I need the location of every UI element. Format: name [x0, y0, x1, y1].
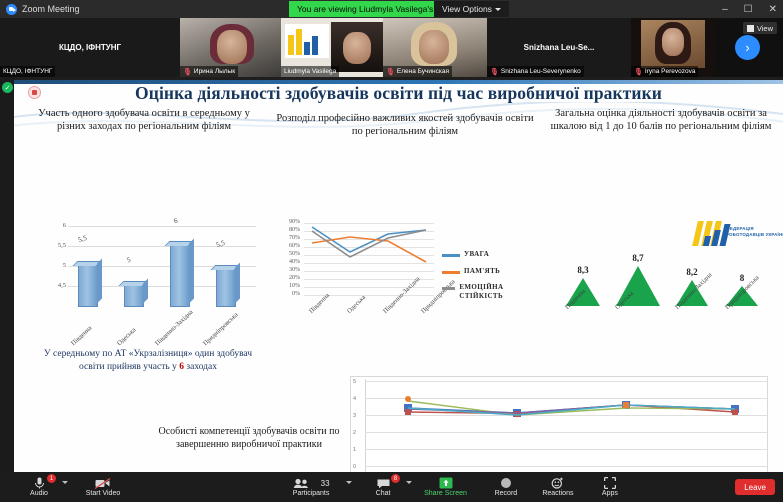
zoom-logo-icon: [6, 4, 17, 15]
audio-badge: 1: [47, 474, 56, 483]
view-options-label: View Options: [442, 4, 492, 14]
chart-competencies-lines: 5 4 3 2 1 0: [350, 376, 768, 472]
cone-bar: 8,7 Одеська: [616, 266, 660, 306]
legend-item-emotional: ЕМОЦІЙНА СТІЙКІСТЬ: [442, 283, 526, 301]
apps-label: Apps: [602, 490, 618, 497]
participant-name-label: КЦДО, ІФНТУНГ: [3, 68, 52, 75]
legend-label: ПАМ'ЯТЬ: [464, 267, 500, 276]
view-layout-button[interactable]: View: [743, 22, 777, 34]
chat-options-chevron-icon[interactable]: [406, 481, 412, 484]
chat-label: Chat: [376, 490, 391, 497]
microphone-icon: [34, 477, 45, 489]
gridline: [68, 226, 256, 227]
chart-overall-score-cones: ФЕДЕРАЦІЯ РОБОТОДАВЦІВ УКРАЇНИ 8,3 Півде…: [554, 230, 776, 330]
bar-side-face: [97, 259, 102, 304]
participant-tile[interactable]: Snizhana Leu-Se... 🎙 Snizhana Leu-Severy…: [487, 18, 631, 77]
y-tick: 5,5: [58, 242, 66, 249]
chart-qualities-lines: 90% 80% 70% 60% 50% 40% 30% 20% 10% 0%: [282, 220, 532, 320]
reactions-button[interactable]: Reactions: [535, 472, 581, 502]
chart-heading-left: Участь одного здобувача освіти в середнь…: [38, 107, 250, 133]
participant-tile[interactable]: 🎙 Ирина Лылык: [180, 18, 281, 77]
legend-item-uvaha: УВАГА: [442, 250, 489, 259]
y-tick: 50%: [282, 251, 300, 257]
participants-options-chevron-icon[interactable]: [346, 481, 352, 484]
participant-name-label: Snizhana Leu-Severynenko: [501, 68, 581, 75]
summary-note-left: У середньому по АТ «Укрзалізниця» один з…: [30, 348, 266, 373]
chart-participation-bars: 6 5,5 5 4,5 5,5 Південна: [44, 222, 259, 327]
participants-label: Participants: [293, 490, 330, 497]
avatar: [419, 30, 449, 64]
y-tick: 80%: [282, 227, 300, 233]
chart-heading-middle: Розподіл професійно важливих якостей здо…: [276, 112, 534, 138]
share-screen-icon: [439, 477, 453, 489]
participant-strip: КЦДО, ІФНТУНГ КЦДО, ІФНТУНГ 🎙 Ирина Лылы…: [0, 18, 783, 77]
chart2-plot-area: Південна Одеська Південно-Західна Придні…: [304, 222, 434, 304]
cone-bar: 8,2 Південно-Західна: [676, 280, 708, 306]
cone-value-label: 8: [740, 273, 745, 283]
y-tick: 0%: [282, 291, 300, 297]
cone-value-label: 8,2: [686, 267, 697, 277]
bar-side-face: [143, 279, 148, 304]
y-tick: 5: [63, 262, 66, 269]
apps-icon: [604, 477, 616, 489]
participant-tile[interactable]: 🎙 Елена Бучинская: [383, 18, 487, 77]
bar-value-label: 5: [126, 256, 132, 265]
chart-heading-right: Загальна оцінка діяльності здобувачів ос…: [548, 107, 774, 133]
maximize-button[interactable]: ☐: [744, 4, 753, 15]
y-tick: 20%: [282, 275, 300, 281]
bar-value-label: 5,5: [215, 239, 226, 249]
y-tick: 90%: [282, 219, 300, 225]
cone-bar: 8 Придніпровська: [726, 286, 758, 306]
grid-view-icon: [747, 25, 754, 32]
share-screen-button[interactable]: Share Screen: [420, 472, 471, 502]
cone-value-label: 8,7: [632, 253, 643, 263]
legend-swatch: [442, 271, 460, 274]
participants-button[interactable]: 33 Participants: [276, 472, 346, 502]
zoom-toolbar: 1 Audio Start Video 33 Participants 8: [0, 472, 783, 502]
participant-name-label: Ирина Лылык: [194, 68, 235, 75]
mic-muted-icon: 🎙: [386, 68, 395, 76]
avatar: [662, 28, 684, 56]
bar-side-face: [235, 263, 240, 304]
y-tick: 60%: [282, 243, 300, 249]
video-camera-off-icon: [95, 477, 111, 489]
avatar: [217, 30, 247, 64]
participants-icon: 33: [293, 477, 330, 489]
organization-logo-icon: [285, 24, 329, 58]
minimize-button[interactable]: –: [722, 4, 728, 15]
audio-label: Audio: [30, 490, 48, 497]
y-tick: 30%: [282, 267, 300, 273]
reactions-icon: [551, 477, 564, 489]
audio-button[interactable]: 1 Audio: [16, 472, 62, 502]
start-video-button[interactable]: Start Video: [80, 472, 126, 502]
y-tick: 70%: [282, 235, 300, 241]
legend-label: УВАГА: [464, 250, 489, 259]
y-tick: 40%: [282, 259, 300, 265]
participant-tile[interactable]: КЦДО, ІФНТУНГ КЦДО, ІФНТУНГ: [0, 18, 180, 77]
participants-count: 33: [321, 479, 330, 488]
y-tick: 4,5: [58, 282, 66, 289]
bar-category-label: Одеська: [116, 326, 137, 347]
participant-name-label: Liudmyla Vasilega: [284, 68, 336, 75]
share-screen-label: Share Screen: [424, 490, 467, 497]
start-video-label: Start Video: [86, 490, 121, 497]
y-tick: 10%: [282, 283, 300, 289]
participant-tile[interactable]: Liudmyla Vasilega: [281, 18, 383, 77]
shield-check-icon: ✓: [2, 82, 13, 93]
record-button[interactable]: Record: [483, 472, 529, 502]
legend-label: ЕМОЦІЙНА СТІЙКІСТЬ: [459, 283, 526, 301]
chevron-down-icon: [495, 8, 501, 11]
mic-muted-icon: 🎙: [490, 68, 499, 76]
legend-swatch: [442, 254, 460, 257]
series-line-pamyat: [312, 237, 426, 262]
summary-note-left-pre: У середньому по АТ «Укрзалізниця» один з…: [44, 349, 252, 372]
view-label: View: [757, 24, 773, 33]
fru-logo-icon: ФЕДЕРАЦІЯ РОБОТОДАВЦІВ УКРАЇНИ: [695, 217, 783, 247]
avatar: [343, 32, 371, 64]
gridline: [68, 246, 256, 247]
legend-swatch: [442, 287, 455, 290]
record-label: Record: [495, 490, 518, 497]
apps-button[interactable]: Apps: [587, 472, 633, 502]
bar-side-face: [189, 239, 194, 304]
slide-title: Оцінка діяльності здобувачів освіти під …: [14, 83, 783, 104]
participant-name-label: Елена Бучинская: [397, 68, 449, 75]
cone-bar: 8,3 Південна: [566, 278, 600, 306]
chat-badge: 8: [391, 474, 400, 483]
bar-category-label: Південна: [70, 325, 93, 347]
fru-logo-text: ФЕДЕРАЦІЯ РОБОТОДАВЦІВ УКРАЇНИ: [726, 226, 783, 238]
bar-category-label: Придніпровська: [202, 311, 240, 347]
presentation-slide: Оцінка діяльності здобувачів освіти під …: [14, 80, 783, 472]
bar: [124, 285, 144, 307]
leave-button[interactable]: Leave: [735, 479, 775, 495]
reactions-label: Reactions: [542, 490, 573, 497]
bar: [170, 245, 190, 307]
bar-value-label: 6: [173, 217, 179, 226]
summary-note-left-post: заходах: [184, 362, 217, 372]
share-side-rail: ✓: [0, 77, 14, 472]
bar-category-label: Південно-Західна: [154, 309, 194, 347]
bar: [216, 269, 236, 307]
mic-muted-icon: 🎙: [634, 68, 643, 76]
view-options-button[interactable]: View Options: [434, 1, 509, 17]
next-page-icon[interactable]: ›: [735, 35, 760, 60]
cone-value-label: 8,3: [577, 265, 588, 275]
participant-tile[interactable]: 🎙 Iryna Perevozova: [631, 18, 715, 77]
window-title: Zoom Meeting: [22, 4, 80, 14]
mic-muted-icon: 🎙: [183, 68, 192, 76]
participant-name-label: Iryna Perevozova: [645, 68, 696, 75]
window-titlebar: Zoom Meeting You are viewing Liudmyla Va…: [0, 0, 783, 18]
summary-note-bottom: Особисті компетенції здобувачів освіти п…: [134, 425, 364, 451]
series-markers-orange: [405, 396, 629, 408]
shared-screen-area: ✓ Оцінка діяльності здобувачів освіти пі…: [0, 77, 783, 472]
audio-options-chevron-icon[interactable]: [62, 481, 68, 484]
bar: [78, 265, 98, 307]
chat-button[interactable]: 8 Chat: [360, 472, 406, 502]
y-tick: 6: [63, 222, 66, 229]
legend-item-pamyat: ПАМ'ЯТЬ: [442, 267, 500, 276]
close-button[interactable]: ✕: [769, 4, 777, 15]
chart1-y-axis: 6 5,5 5 4,5: [44, 222, 66, 300]
bar-value-label: 5,5: [77, 234, 88, 244]
chat-icon: [377, 477, 390, 489]
record-icon: [500, 477, 512, 489]
fru-logo-bars: [695, 219, 722, 246]
